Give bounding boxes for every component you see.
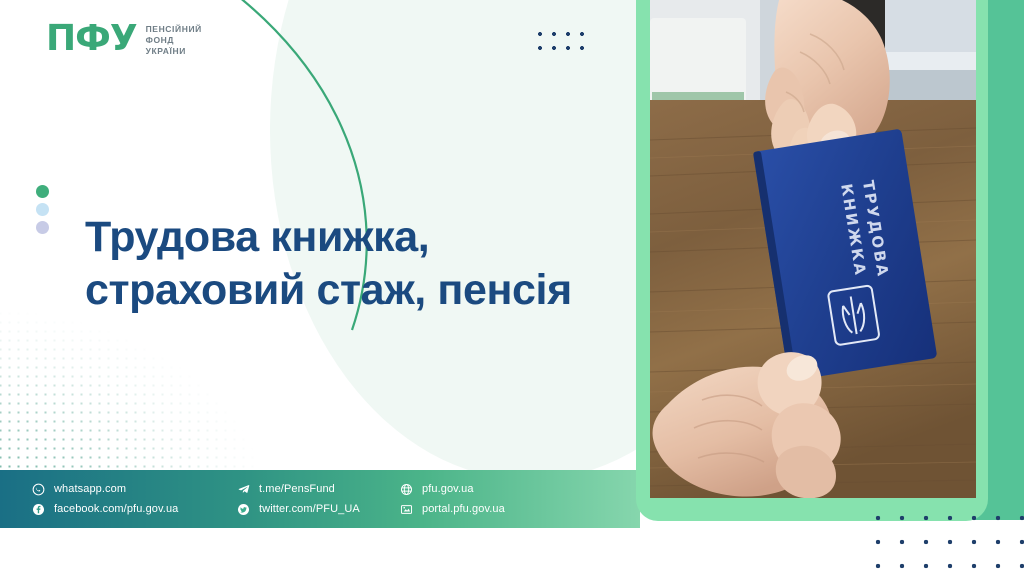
footer-column-3: pfu.gov.ua portal.pfu.gov.ua [400,483,560,516]
contact-label-twitter: twitter.com/PFU_UA [259,503,360,515]
contact-label-portal: portal.pfu.gov.ua [422,503,505,515]
telegram-icon [237,483,250,496]
logo-wordmark: ПЕНСІЙНИЙ ФОНД УКРАЇНИ [146,22,202,56]
contact-link-facebook[interactable]: facebook.com/pfu.gov.ua [32,503,237,516]
accent-dot-stack [36,185,49,234]
hero-photo: ТРУДОВА КНИЖКА [650,0,976,498]
contact-label-facebook: facebook.com/pfu.gov.ua [54,503,178,515]
logo-mark: ПФУ [46,21,137,57]
contact-link-website[interactable]: pfu.gov.ua [400,483,560,496]
logo-line-1: ПЕНСІЙНИЙ [146,24,202,34]
contact-label-website: pfu.gov.ua [422,483,474,495]
contact-link-twitter[interactable]: twitter.com/PFU_UA [237,503,400,516]
contact-link-portal[interactable]: portal.pfu.gov.ua [400,503,560,516]
dot-grid-top-right [533,27,591,59]
accent-dot-blue [36,203,49,216]
contact-link-telegram[interactable]: t.me/PensFund [237,483,400,496]
brand-logo[interactable]: ПФУ ПЕНСІЙНИЙ ФОНД УКРАЇНИ [46,21,202,57]
page-title: Трудова книжка, страховий стаж, пенсія [85,211,605,317]
page-title-line-2: страховий стаж, пенсія [85,264,605,317]
slide-root: ПФУ ПЕНСІЙНИЙ ФОНД УКРАЇНИ Трудова книжк… [0,0,1024,576]
globe-icon [400,483,413,496]
facebook-icon [32,503,45,516]
accent-dot-purple [36,221,49,234]
contact-link-whatsapp[interactable]: whatsapp.com [32,483,237,496]
contact-label-telegram: t.me/PensFund [259,483,335,495]
contact-footer-bar: whatsapp.com facebook.com/pfu.gov.ua [0,470,640,528]
whatsapp-icon [32,483,45,496]
page-title-line-1: Трудова книжка, [85,213,429,261]
portal-icon [400,503,413,516]
footer-column-1: whatsapp.com facebook.com/pfu.gov.ua [32,483,237,516]
content-card: ПФУ ПЕНСІЙНИЙ ФОНД УКРАЇНИ Трудова книжк… [0,0,640,576]
accent-dot-green [36,185,49,198]
twitter-icon [237,503,250,516]
hero-photo-illustration: ТРУДОВА КНИЖКА [650,0,976,498]
footer-column-2: t.me/PensFund twitter.com/PFU_UA [237,483,400,516]
logo-line-3: УКРАЇНИ [146,46,202,56]
dot-grid-bottom-right [866,506,1024,576]
contact-label-whatsapp: whatsapp.com [54,483,126,495]
logo-line-2: ФОНД [146,35,202,45]
